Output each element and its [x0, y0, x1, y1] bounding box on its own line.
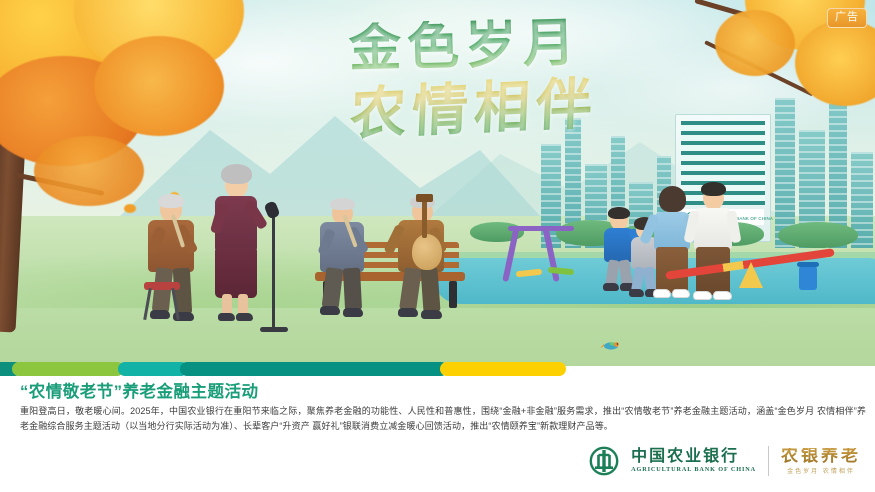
hair	[221, 164, 252, 184]
skirt	[215, 248, 257, 298]
bank-name-block: 中国农业银行 AGRICULTURAL BANK OF CHINA	[631, 448, 756, 473]
bird	[600, 338, 622, 350]
tree-foliage	[34, 136, 144, 206]
sub-brand-name: 农银养老	[781, 448, 861, 465]
hair	[158, 194, 184, 208]
elderly-flute-player-left	[140, 192, 214, 324]
swing-seat	[516, 269, 542, 278]
seesaw-pivot	[739, 262, 763, 288]
elderly-pipa-player	[388, 194, 458, 324]
leg	[343, 268, 362, 311]
strip-segment-teal	[118, 362, 188, 376]
abc-bank-logo-icon	[589, 446, 619, 476]
shoe	[421, 310, 442, 319]
pipa-body	[412, 234, 442, 270]
bush	[778, 222, 858, 248]
ad-banner-page: 中国农业银行 AGRICULTURAL BANK OF CHINA	[0, 0, 875, 492]
shoe	[398, 308, 418, 317]
footer-logo-row: 中国农业银行 AGRICULTURAL BANK OF CHINA 农银养老 金…	[589, 440, 861, 482]
leg	[322, 267, 344, 309]
shoe	[150, 310, 170, 319]
hair	[659, 186, 686, 212]
strip-segment-yellow	[440, 362, 566, 376]
trash-bin	[799, 266, 817, 290]
sub-brand-tagline: 金色岁月 农情相伴	[781, 469, 861, 475]
shoe	[629, 289, 644, 297]
swing-set	[508, 226, 594, 288]
leg	[152, 267, 174, 313]
sub-brand-block: 农银养老 金色岁月 农情相伴	[781, 448, 861, 475]
shoe	[693, 291, 712, 300]
strip-segment-light-green	[12, 362, 124, 376]
elderly-flute-player-bench	[310, 196, 376, 320]
shoe	[320, 306, 340, 315]
shoe	[713, 291, 732, 300]
shoe	[653, 289, 671, 298]
microphone-stand	[272, 212, 275, 328]
hero-illustration: 中国农业银行 AGRICULTURAL BANK OF CHINA	[0, 0, 875, 366]
bank-name-en: AGRICULTURAL BANK OF CHINA	[631, 467, 756, 473]
shoe	[218, 313, 235, 321]
microphone-base	[260, 327, 288, 332]
swing-crossbar	[508, 226, 574, 231]
fallen-leaf	[124, 204, 136, 213]
hair	[701, 182, 726, 196]
hair	[330, 198, 355, 210]
strip-segment-deep-teal	[180, 362, 448, 376]
shoe	[236, 313, 253, 321]
pipa-neck	[422, 198, 427, 238]
elderly-singer-with-microphone	[205, 160, 265, 330]
content-section: “农情敬老节”养老金融主题活动 重阳登高日，敬老暖心间。2025年，中国农业银行…	[0, 376, 875, 492]
leg	[399, 267, 422, 311]
page-title: “农情敬老节”养老金融主题活动	[20, 378, 259, 402]
color-strip	[0, 362, 875, 376]
tree-foliage	[94, 36, 224, 136]
pipa-head	[416, 194, 433, 202]
shoe	[343, 308, 363, 317]
tree-foliage	[715, 10, 795, 76]
body-paragraph: 重阳登高日，敬老暖心间。2025年，中国农业银行在重阳节来临之际，聚焦养老金融的…	[20, 404, 866, 433]
logo-divider	[768, 446, 769, 476]
shoe	[603, 283, 619, 291]
bank-name-cn: 中国农业银行	[631, 448, 756, 464]
leg	[420, 267, 440, 312]
ad-badge: 广告	[827, 8, 867, 28]
